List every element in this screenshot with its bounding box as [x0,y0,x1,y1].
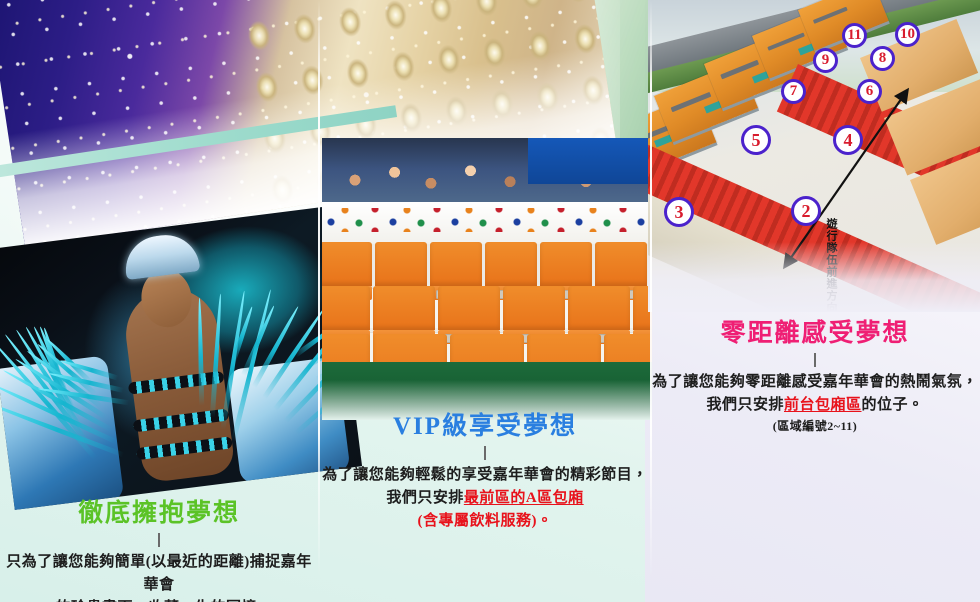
caption-right-line2-suffix: 的位子。 [862,397,924,413]
zone-marker-9[interactable]: 9 [813,48,838,73]
caption-right-line2: 我們只安排前台包廂區的位子。 [652,394,978,417]
caption-right-note: (區域編號2~11) [652,417,978,434]
zone-marker-10[interactable]: 10 [895,22,920,47]
zone-marker-5[interactable]: 5 [741,125,771,155]
zone-marker-8[interactable]: 8 [870,46,895,71]
stadium-banner [528,138,648,184]
caption-rule [484,446,486,460]
grandstand-seat [438,286,500,330]
photo-aerial-sambadrome-map: 遊行隊伍前進方向 234567891011 [648,0,980,312]
caption-middle-line2-prefix: 我們只安排 [386,490,464,506]
caption-left-line1: 只為了讓您能夠簡單(以最近的距離)捕捉嘉年華會 [0,551,318,598]
caption-left-title: 徹底擁抱夢想 [0,500,318,528]
caption-right-line2-prefix: 我們只安排 [706,397,784,413]
photo-fade-edge [648,242,980,312]
grandstand-seat [430,242,482,286]
caption-middle-line3: (含專屬飲料服務)。 [322,510,648,533]
grandstand-seat [568,286,630,330]
photo-vip-grandstand [322,138,652,420]
caption-right: 零距離感受夢想 為了讓您能夠零距離感受嘉年華會的熱鬧氣氛， 我們只安排前台包廂區… [652,320,978,434]
promo-banner: 遊行隊伍前進方向 234567891011 徹底擁抱夢想 只為了讓您能夠簡單(以… [0,0,980,602]
caption-left: 徹底擁抱夢想 只為了讓您能夠簡單(以最近的距離)捕捉嘉年華會 的珍貴畫面，收藏一… [0,500,318,602]
caption-middle-line2: 我們只安排最前區的A區包廂 [322,487,648,510]
caption-right-highlight: 前台包廂區 [784,397,862,413]
caption-middle-highlight: 最前區的A區包廂 [464,490,584,506]
caption-rule [158,533,160,547]
zone-marker-11[interactable]: 11 [842,23,867,48]
photo-blue-feather-dancer [0,206,362,510]
caption-right-line1: 為了讓您能夠零距離感受嘉年華會的熱鬧氣氛， [652,371,978,394]
panel-divider-left [318,0,320,602]
caption-middle: VIP級享受夢想 為了讓您能夠輕鬆的享受嘉年華會的精彩節目， 我們只安排最前區的… [322,413,648,533]
caption-right-title: 零距離感受夢想 [652,320,978,348]
caption-left-line2: 的珍貴畫面，收藏一生的回憶! [0,597,318,602]
caption-middle-title: VIP級享受夢想 [322,413,648,441]
zone-marker-7[interactable]: 7 [781,79,806,104]
panel-divider-right [650,0,652,602]
caption-rule [814,353,816,367]
grandstand-seat [485,242,537,286]
caption-middle-line1: 為了讓您能夠輕鬆的享受嘉年華會的精彩節目， [322,464,648,487]
grandstand-seat [322,286,370,330]
zone-marker-2[interactable]: 2 [791,196,821,226]
zone-marker-6[interactable]: 6 [857,79,882,104]
grandstand-seat [322,242,372,286]
grandstand-seat [540,242,592,286]
zone-marker-3[interactable]: 3 [664,197,694,227]
grandstand-seat [503,286,565,330]
grandstand-seat [375,242,427,286]
grandstand-seat [373,286,435,330]
grandstand-seat [595,242,647,286]
zone-marker-4[interactable]: 4 [833,125,863,155]
confetti-dots [322,208,652,232]
